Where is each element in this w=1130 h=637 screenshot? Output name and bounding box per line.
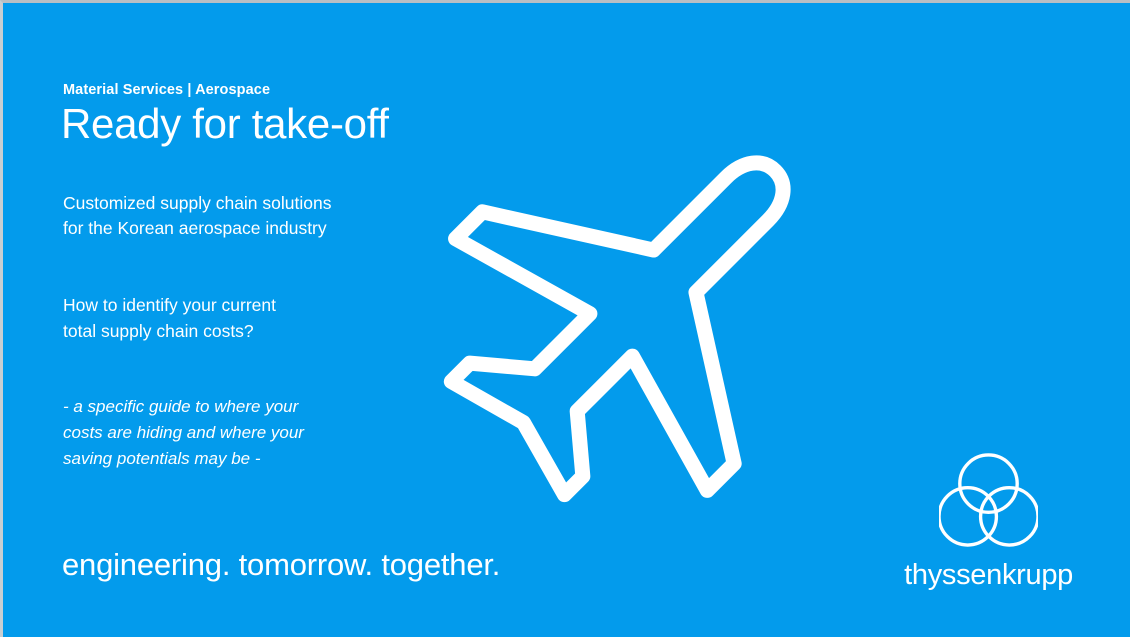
note-line-1: - a specific guide to where your	[63, 394, 304, 420]
lead-line-1: Customized supply chain solutions	[63, 191, 331, 216]
brand-logo: thyssenkrupp	[904, 453, 1073, 590]
presentation-slide: Material Services | Aerospace Ready for …	[0, 0, 1130, 637]
brand-wordmark: thyssenkrupp	[904, 561, 1073, 590]
page-title: Ready for take-off	[61, 101, 389, 147]
lead-paragraph: Customized supply chain solutions for th…	[63, 191, 331, 241]
question-line-2: total supply chain costs?	[63, 318, 276, 344]
thyssenkrupp-rings-icon	[939, 453, 1038, 547]
slide-eyebrow: Material Services | Aerospace	[63, 82, 270, 98]
note-line-3: saving potentials may be -	[63, 446, 304, 472]
airplane-icon	[418, 88, 858, 528]
question-line-1: How to identify your current	[63, 292, 276, 318]
brand-tagline: engineering. tomorrow. together.	[62, 547, 500, 583]
note-line-2: costs are hiding and where your	[63, 420, 304, 446]
lead-line-2: for the Korean aerospace industry	[63, 216, 331, 241]
question-paragraph: How to identify your current total suppl…	[63, 292, 276, 344]
subtitle-note: - a specific guide to where your costs a…	[63, 394, 304, 472]
slide-text-column: Material Services | Aerospace Ready for …	[61, 3, 481, 637]
